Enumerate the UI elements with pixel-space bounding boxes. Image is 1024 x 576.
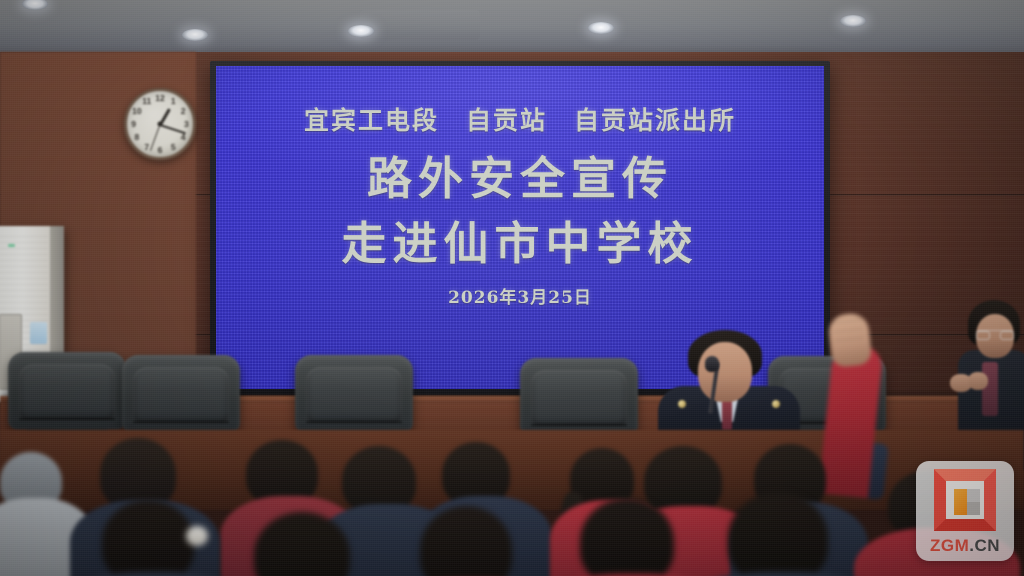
microphone-head — [705, 356, 719, 372]
watermark-badge: ZGM.CN — [916, 461, 1014, 561]
clock-minute-hand — [160, 124, 186, 134]
ac-energy-label — [30, 322, 47, 344]
student-audience — [562, 498, 698, 576]
recessed-downlight — [588, 22, 614, 34]
chair-seam — [133, 421, 229, 423]
clock-center-hub — [158, 122, 163, 127]
recessed-downlight — [840, 15, 866, 27]
executive-chair — [295, 355, 413, 441]
wall-clock: 12 1 2 3 4 5 6 7 8 9 10 11 — [124, 88, 196, 160]
speaker-in-uniform — [662, 330, 792, 440]
clock-number: 1 — [171, 97, 176, 106]
slide-headline-line1: 路外安全宣传 — [367, 156, 673, 201]
student-head — [102, 500, 194, 576]
clock-number: 7 — [144, 143, 149, 152]
speaker-head — [698, 342, 752, 402]
chair-lumbar — [133, 367, 229, 423]
clock-number: 2 — [181, 107, 186, 116]
student-audience — [236, 512, 376, 576]
chair-lumbar — [306, 367, 402, 423]
raised-hand — [827, 312, 872, 368]
chair-seam — [306, 421, 402, 423]
clock-number: 5 — [171, 143, 176, 152]
student-head — [580, 498, 674, 576]
student-audience — [404, 506, 536, 576]
recessed-downlight — [22, 0, 48, 10]
eyeglasses-icon — [976, 330, 1014, 339]
logo-notch-block — [967, 502, 980, 515]
ac-status-led — [8, 244, 15, 247]
clock-number: 8 — [135, 133, 140, 142]
chair-lumbar — [19, 364, 115, 420]
officer-hand — [968, 372, 988, 390]
hair-scrunchie — [186, 526, 208, 546]
recessed-downlight — [182, 29, 208, 41]
student-audience — [82, 500, 222, 576]
watermark-text: ZGM.CN — [930, 537, 1000, 554]
executive-chair — [122, 355, 240, 441]
officer-neck-scarf — [982, 362, 998, 416]
student-audience — [706, 492, 856, 576]
ceiling-vent — [360, 10, 480, 40]
scene-root: 12 1 2 3 4 5 6 7 8 9 10 11 宜宾工电段 自贡站 自贡站… — [0, 0, 1024, 576]
watermark-suffix: .CN — [969, 536, 1000, 555]
student-body — [66, 572, 244, 576]
zgm-logo-icon — [934, 469, 996, 531]
clock-number: 3 — [184, 120, 189, 129]
chair-lumbar — [531, 370, 627, 426]
watermark-brand: ZGM — [930, 536, 969, 555]
speaker-necktie — [722, 398, 732, 430]
speaker-shoulder-insignia — [678, 400, 686, 408]
speaker-shoulder-insignia — [772, 400, 780, 408]
slide-headline-line2: 走进仙市中学校 — [341, 221, 698, 266]
clock-number: 9 — [131, 120, 136, 129]
slide-date: 2026年3月25日 — [448, 290, 592, 307]
recessed-downlight — [348, 25, 374, 37]
clock-number: 11 — [142, 97, 151, 106]
logo-gray-block — [967, 489, 980, 502]
student-head — [420, 506, 512, 576]
clock-number: 6 — [158, 146, 163, 155]
clock-number: 12 — [155, 93, 164, 102]
chair-seam — [19, 418, 115, 420]
chair-seam — [531, 424, 627, 426]
student-head — [254, 512, 350, 576]
executive-chair — [8, 352, 126, 438]
slide-organizations: 宜宾工电段 自贡站 自贡站派出所 — [304, 108, 736, 133]
student-body — [692, 572, 878, 576]
clock-number: 10 — [132, 107, 141, 116]
student-head — [728, 492, 828, 576]
